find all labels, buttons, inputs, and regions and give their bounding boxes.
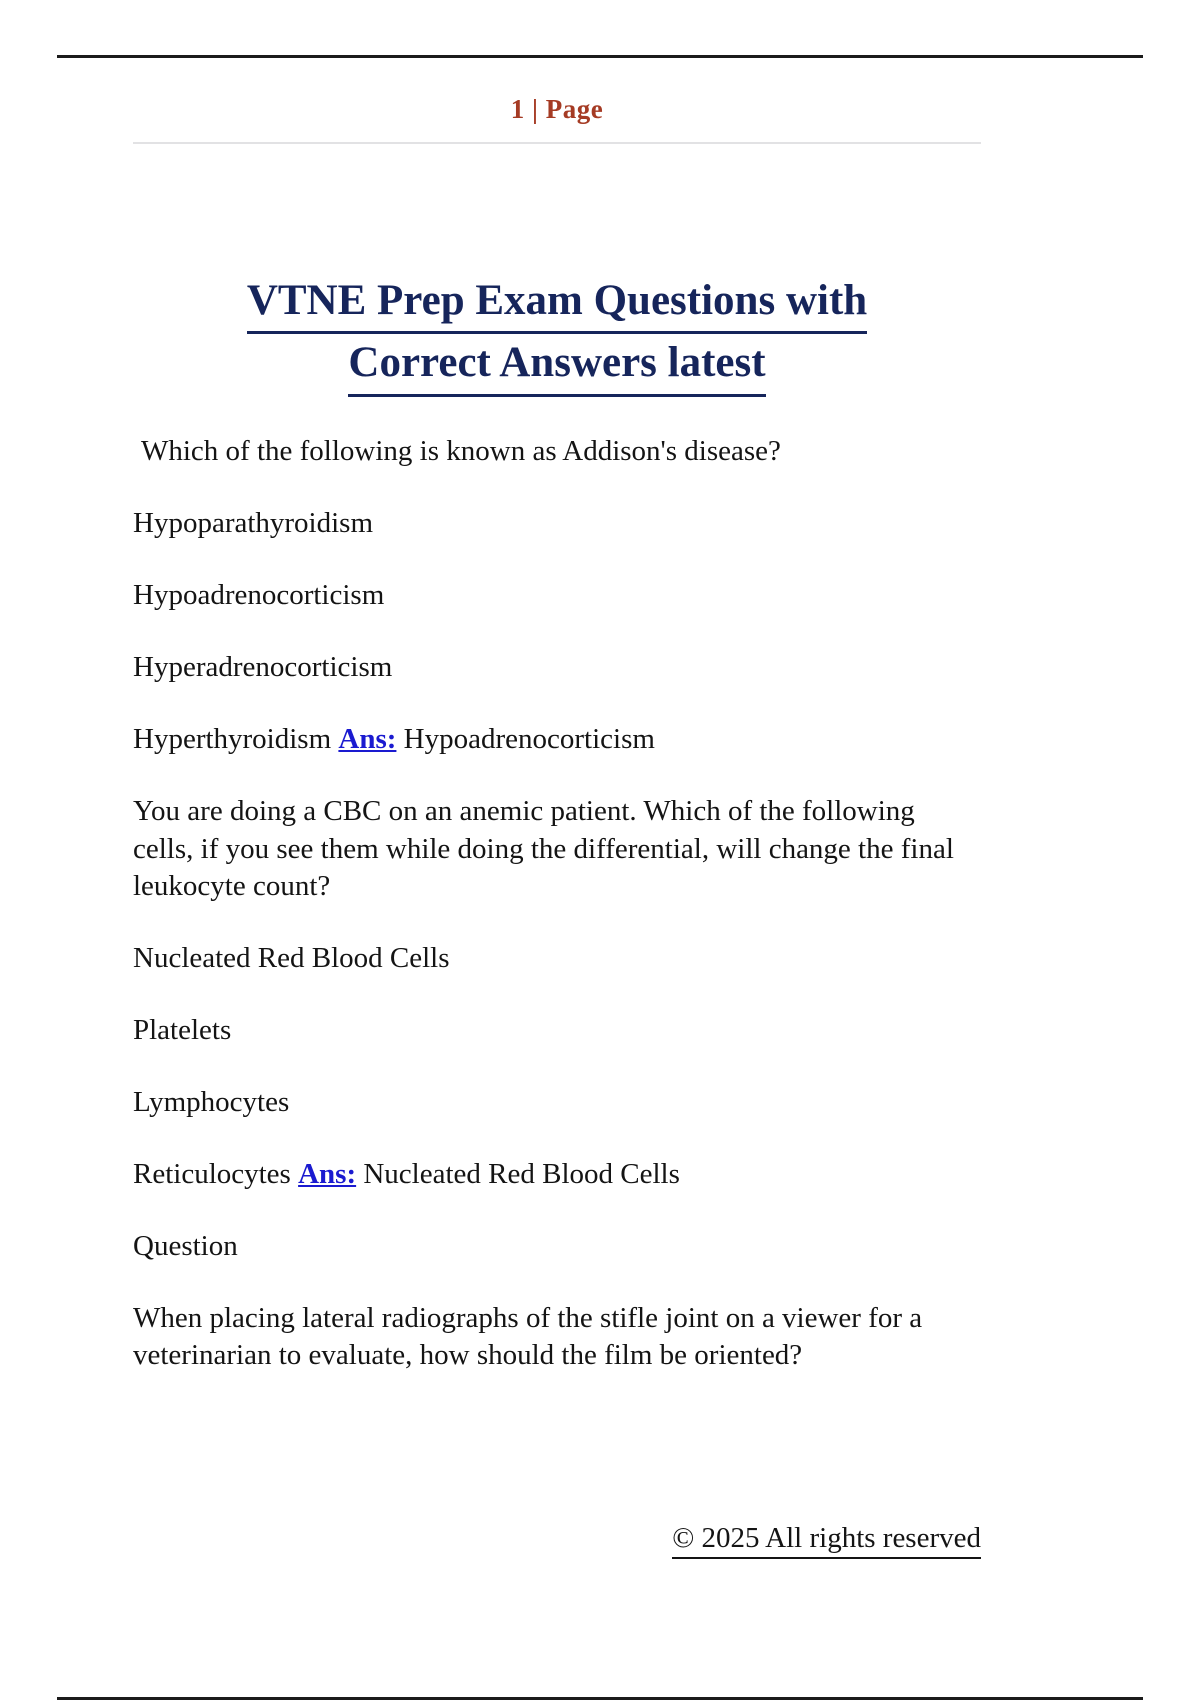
question-2-answer-text: Nucleated Red Blood Cells [363,1158,680,1190]
question-3-label-text: Question [133,1230,238,1262]
page-number-label: 1 | Page [511,96,603,123]
question-3-stem-text: When placing lateral radiographs of the … [133,1302,922,1371]
answer-label: Ans: [338,723,396,755]
question-1-option-b-text: Hypoadrenocorticism [133,579,384,611]
question-2-option-c: Lymphocytes [133,1084,981,1121]
question-1-option-c-text: Hyperadrenocorticism [133,651,392,683]
question-2-stem-text: You are doing a CBC on an anemic patient… [133,795,954,901]
running-footer: © 2025 All rights reserved [133,1521,981,1559]
question-body: Which of the following is known as Addis… [133,397,981,1375]
page-title: VTNE Prep Exam Questions with Correct An… [133,144,981,397]
question-2-option-b: Platelets [133,1012,981,1049]
running-header: 1 | Page [133,0,981,123]
copyright-notice: © 2025 All rights reserved [672,1521,981,1559]
answer-label: Ans: [298,1158,356,1190]
question-3-stem: When placing lateral radiographs of the … [133,1300,981,1374]
question-2-option-d-with-answer: Reticulocytes Ans: Nucleated Red Blood C… [133,1156,981,1193]
question-2-option-a: Nucleated Red Blood Cells [133,940,981,977]
page-title-line-1: VTNE Prep Exam Questions with [247,272,867,334]
page-title-line-2: Correct Answers latest [348,334,765,396]
question-1-option-a-text: Hypoparathyroidism [133,507,373,539]
question-1-stem: Which of the following is known as Addis… [133,433,981,470]
question-2-option-d-text: Reticulocytes [133,1158,291,1190]
question-1-option-c: Hyperadrenocorticism [133,649,981,686]
document-content: 1 | Page VTNE Prep Exam Questions with C… [133,0,981,1410]
document-page: 1 | Page VTNE Prep Exam Questions with C… [0,0,1200,1700]
question-2-option-b-text: Platelets [133,1014,231,1046]
question-1-answer-text: Hypoadrenocorticism [404,723,655,755]
question-3-label: Question [133,1228,981,1265]
question-1-option-b: Hypoadrenocorticism [133,577,981,614]
question-2-option-a-text: Nucleated Red Blood Cells [133,942,450,974]
question-1-option-d-with-answer: Hyperthyroidism Ans: Hypoadrenocorticism [133,721,981,758]
question-2-option-c-text: Lymphocytes [133,1086,289,1118]
question-1-option-d-text: Hyperthyroidism [133,723,331,755]
question-1-option-a: Hypoparathyroidism [133,505,981,542]
question-2-stem: You are doing a CBC on an anemic patient… [133,793,981,904]
question-1-stem-text: Which of the following is known as Addis… [141,435,781,467]
